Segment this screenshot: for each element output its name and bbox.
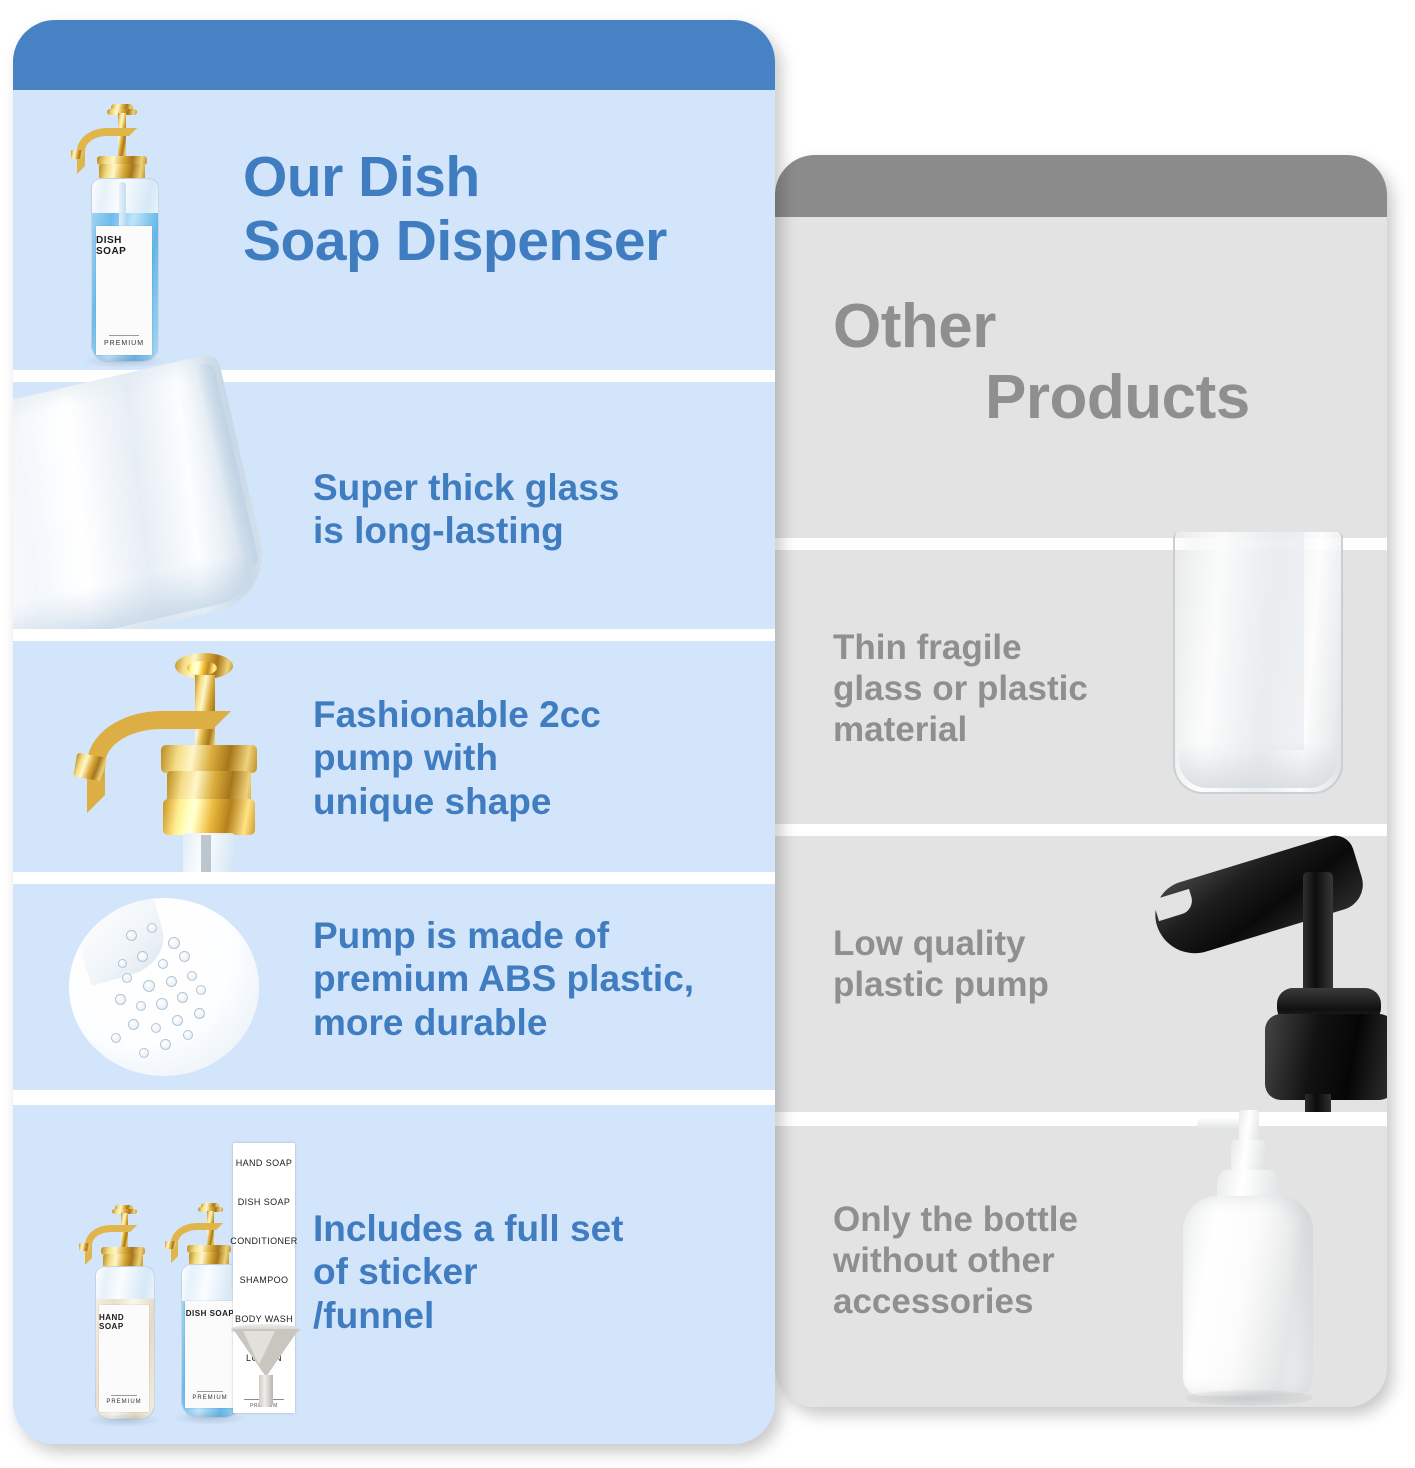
funnel-image xyxy=(233,1329,303,1413)
other-feature-1-line-3: material xyxy=(833,710,1193,751)
other-title-line-1: Other xyxy=(775,291,1387,362)
our-feature-2-line-3: unique shape xyxy=(313,780,753,823)
dish-soap-label-sub: PREMIUM xyxy=(104,340,144,347)
our-feature-4-text: Includes a full set of sticker /funnel xyxy=(313,1207,753,1337)
abs-pellets-circle-image xyxy=(69,898,259,1076)
sticker-label-1: HAND SOAP xyxy=(233,1143,295,1182)
sticker-label-4: SHAMPOO xyxy=(233,1260,295,1299)
our-feature-row-3: Pump is made of premium ABS plastic, mor… xyxy=(13,884,775,1090)
other-feature-row-1: Thin fragile glass or plastic material xyxy=(775,550,1387,824)
our-feature-row-1: Super thick glass is long-lasting xyxy=(13,382,775,629)
sticker-label-3: CONDITIONER xyxy=(233,1221,295,1260)
our-title-line-1: Our Dish xyxy=(243,146,753,210)
hand-soap-label-sub: PREMIUM xyxy=(106,1399,141,1405)
our-feature-4-line-3: /funnel xyxy=(313,1294,753,1337)
our-feature-3-text: Pump is made of premium ABS plastic, mor… xyxy=(313,914,753,1044)
our-title-line-2: Soap Dispenser xyxy=(243,210,753,274)
our-panel-header-band xyxy=(13,20,775,90)
dish-soap-set-bottle-label: DISH SOAP PREMIUM xyxy=(185,1301,235,1408)
our-feature-row-2: Fashionable 2cc pump with unique shape xyxy=(13,641,775,872)
dish-soap-bottle-image: DISH SOAP PREMIUM xyxy=(53,104,183,362)
other-panel-header-band xyxy=(775,155,1387,217)
other-feature-1-text: Thin fragile glass or plastic material xyxy=(833,628,1193,751)
our-feature-4-line-1: Includes a full set xyxy=(313,1207,753,1250)
our-feature-3-line-1: Pump is made of xyxy=(313,914,753,957)
other-feature-row-2: Low quality plastic pump xyxy=(775,836,1387,1112)
other-panel-title: Other Products xyxy=(775,291,1387,434)
our-feature-1-line-2: is long-lasting xyxy=(313,509,753,552)
dish-soap-set-label-title: DISH SOAP xyxy=(186,1309,235,1318)
our-panel-title: Our Dish Soap Dispenser xyxy=(243,146,753,274)
gold-pump-closeup-image xyxy=(63,649,293,879)
other-feature-3-line-3: accessories xyxy=(833,1282,1193,1323)
our-hero-row: DISH SOAP PREMIUM Our Dish Soap Dispense… xyxy=(13,90,775,370)
hand-soap-label-title: HAND SOAP xyxy=(99,1313,149,1331)
thin-glass-tube-image xyxy=(1173,532,1343,794)
dish-soap-bottle-label: DISH SOAP PREMIUM xyxy=(96,226,152,355)
sticker-label-2: DISH SOAP xyxy=(233,1182,295,1221)
our-feature-2-line-1: Fashionable 2cc xyxy=(313,693,753,736)
white-plastic-bottle-image xyxy=(1183,1110,1319,1407)
our-row-divider-4 xyxy=(13,1090,775,1105)
other-feature-2-line-1: Low quality xyxy=(833,924,1193,965)
our-feature-1-text: Super thick glass is long-lasting xyxy=(313,466,753,553)
our-feature-4-line-2: of sticker xyxy=(313,1250,753,1293)
our-feature-row-4: HAND SOAP PREMIUM DISH SOAP xyxy=(13,1105,775,1444)
our-feature-2-text: Fashionable 2cc pump with unique shape xyxy=(313,693,753,823)
other-feature-3-line-2: without other xyxy=(833,1241,1193,1282)
our-product-panel: DISH SOAP PREMIUM Our Dish Soap Dispense… xyxy=(13,20,775,1444)
our-feature-3-line-2: premium ABS plastic, xyxy=(313,957,753,1000)
our-row-divider-2 xyxy=(13,629,775,641)
other-feature-1-line-2: glass or plastic xyxy=(833,669,1193,710)
other-products-panel: Other Products Thin fragile glass or pla… xyxy=(775,155,1387,1407)
dish-soap-set-label-sub: PREMIUM xyxy=(192,1395,227,1401)
other-title-line-2: Products xyxy=(775,362,1387,433)
thick-glass-closeup-image xyxy=(13,352,274,663)
our-feature-3-line-3: more durable xyxy=(313,1001,753,1044)
our-feature-1-line-1: Super thick glass xyxy=(313,466,753,509)
our-row-divider-3 xyxy=(13,872,775,884)
other-feature-2-line-2: plastic pump xyxy=(833,965,1193,1006)
dish-soap-label-title: DISH SOAP xyxy=(96,235,152,257)
other-row-divider-2 xyxy=(775,824,1387,836)
hand-soap-bottle-label: HAND SOAP PREMIUM xyxy=(99,1305,149,1412)
other-feature-1-line-1: Thin fragile xyxy=(833,628,1193,669)
other-feature-row-3: Only the bottle without other accessorie… xyxy=(775,1126,1387,1407)
our-feature-2-line-2: pump with xyxy=(313,736,753,779)
other-feature-3-line-1: Only the bottle xyxy=(833,1200,1193,1241)
other-feature-3-text: Only the bottle without other accessorie… xyxy=(833,1200,1193,1323)
other-feature-2-text: Low quality plastic pump xyxy=(833,924,1193,1006)
